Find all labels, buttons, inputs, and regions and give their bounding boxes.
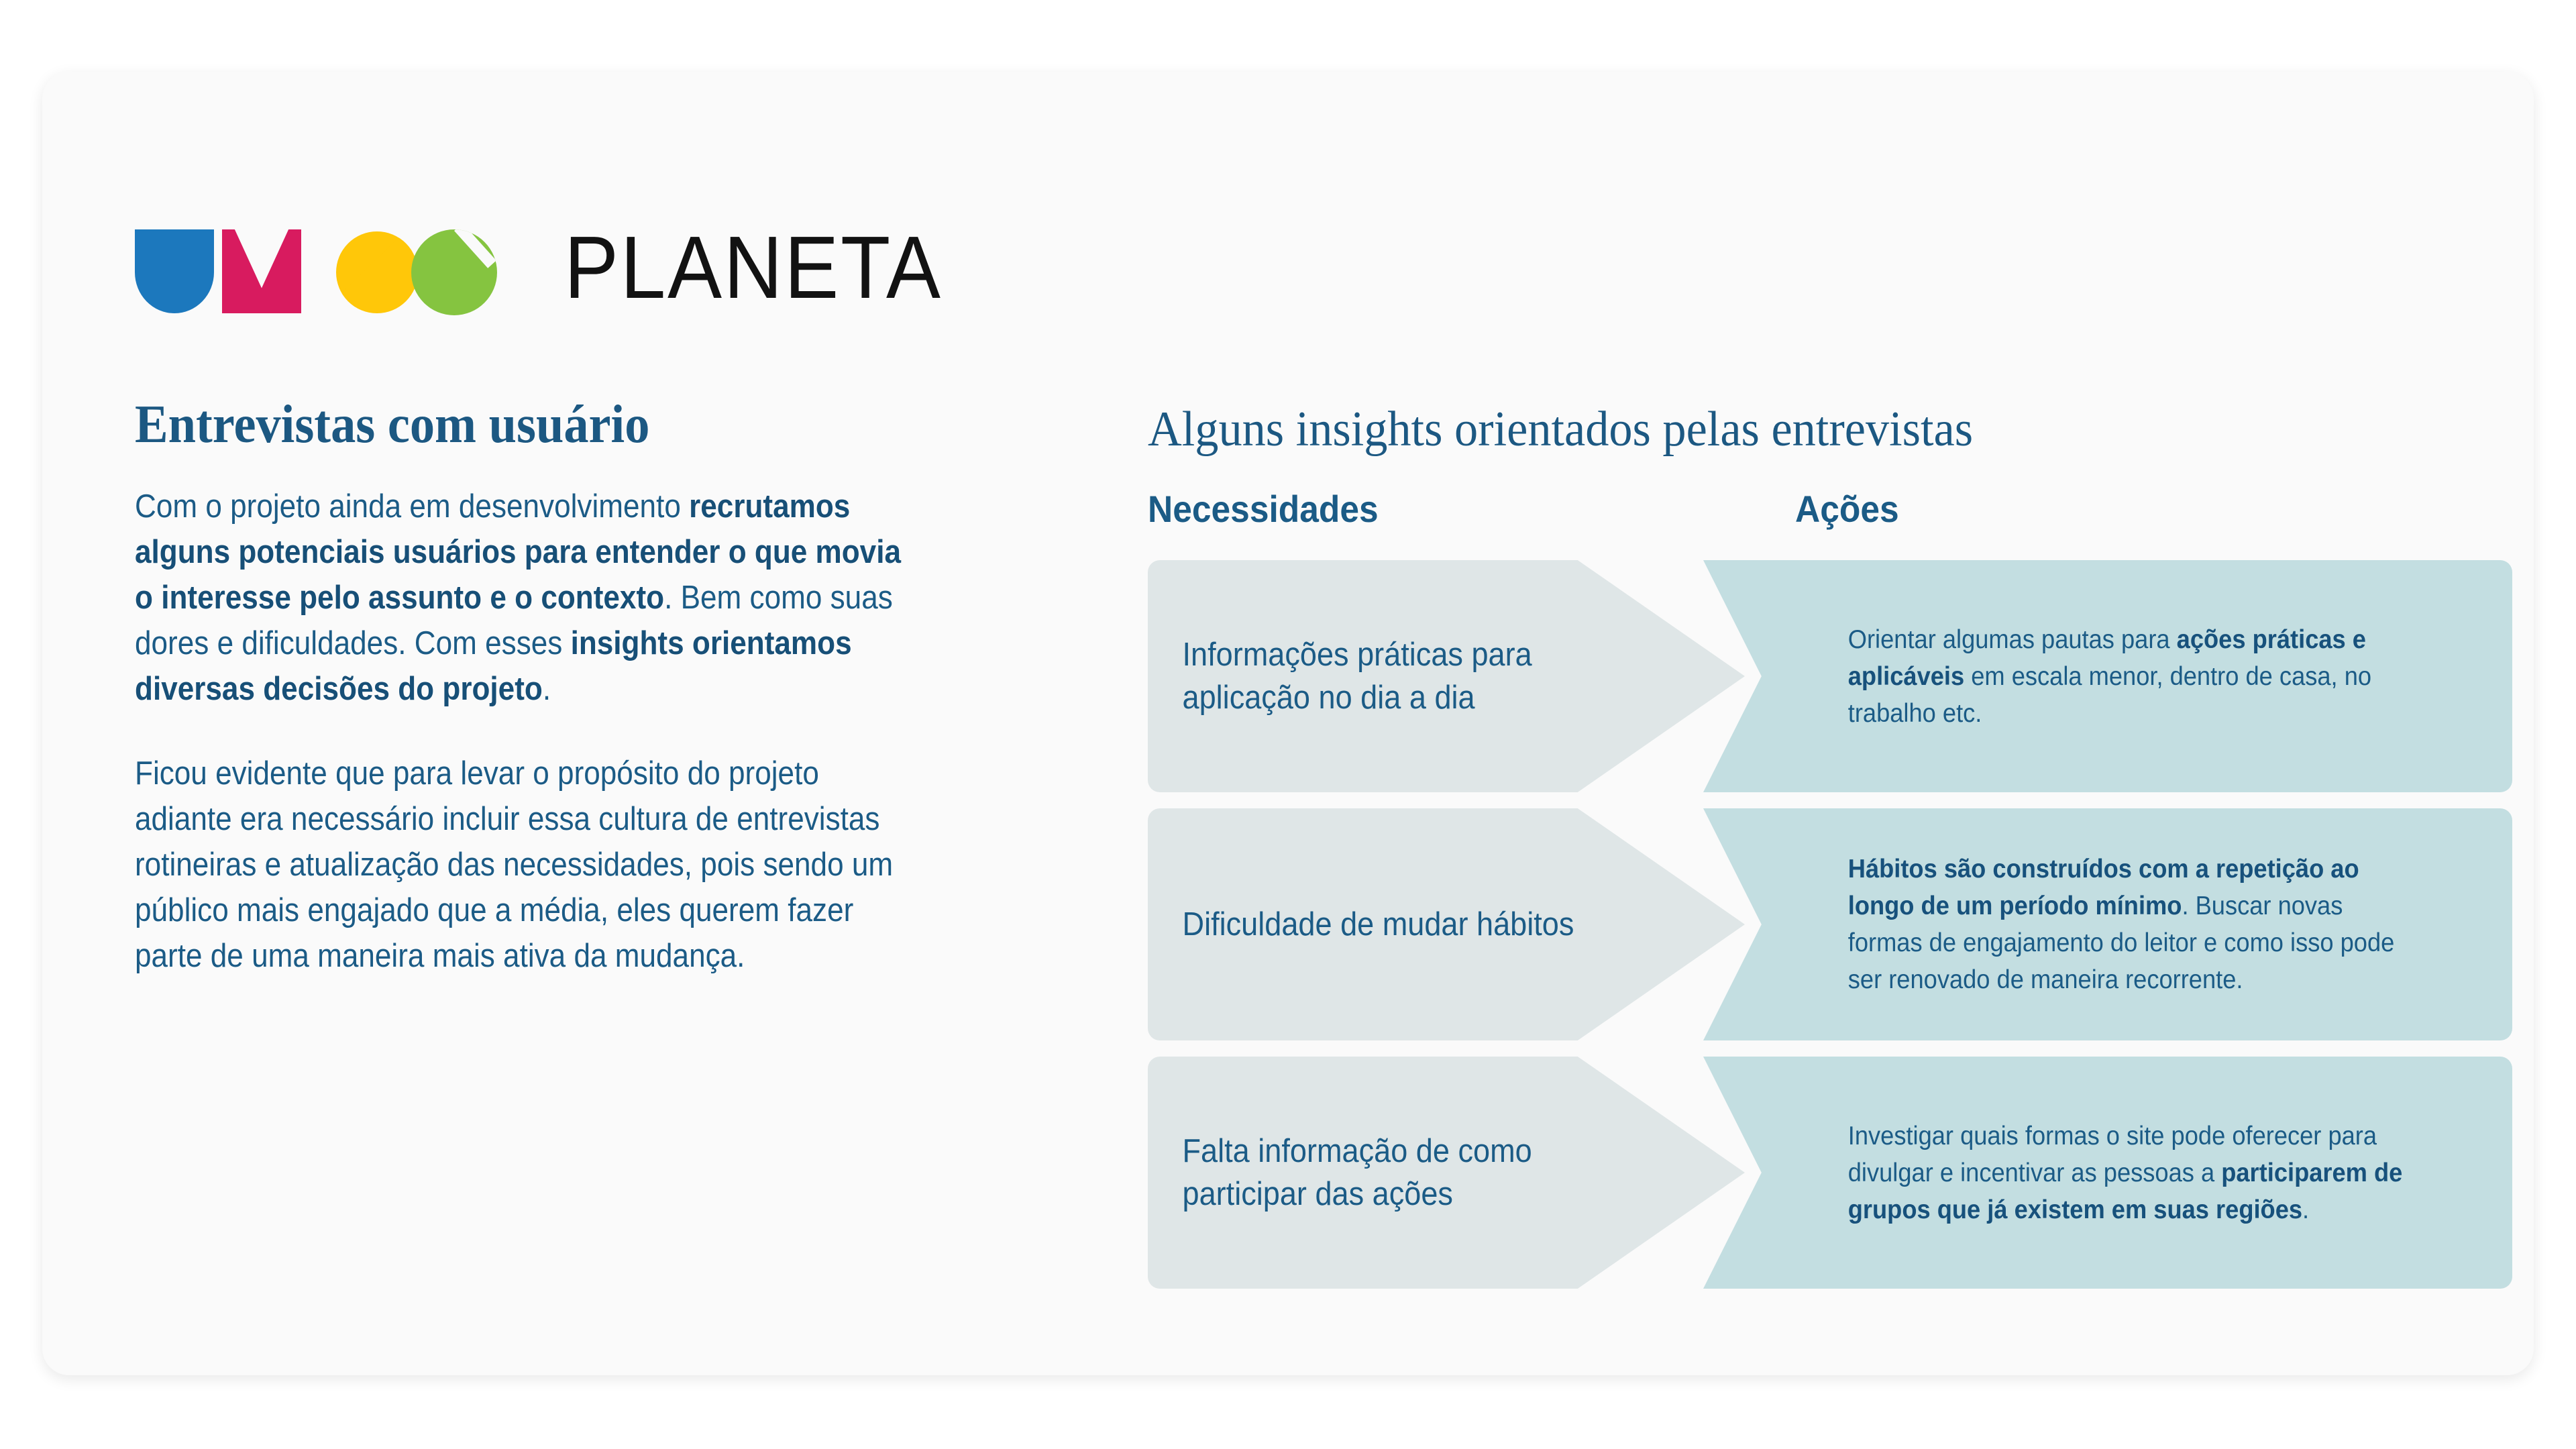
insights-rows: Informações práticas para aplicação no d… bbox=[1148, 560, 2510, 1289]
action-text: Investigar quais formas o site pode ofer… bbox=[1703, 1118, 2456, 1228]
logo-letter-m-icon bbox=[222, 229, 301, 313]
need-block: Falta informação de como participar das … bbox=[1148, 1057, 1745, 1289]
insight-row: Dificuldade de mudar hábitos Hábitos são… bbox=[1148, 808, 2510, 1040]
action-text: Hábitos são construídos com a repetição … bbox=[1703, 851, 2456, 998]
insight-row: Falta informação de como participar das … bbox=[1148, 1057, 2510, 1289]
action-block: Hábitos são construídos com a repetição … bbox=[1703, 808, 2512, 1040]
logo-mark: PLANETA bbox=[135, 219, 470, 313]
left-paragraph-2: Ficou evidente que para levar o propósit… bbox=[135, 751, 920, 979]
action-block: Orientar algumas pautas para ações práti… bbox=[1703, 560, 2512, 792]
brand-logo: PLANETA bbox=[135, 219, 470, 313]
need-text: Falta informação de como participar das … bbox=[1148, 1130, 1697, 1216]
need-block: Informações práticas para aplicação no d… bbox=[1148, 560, 1745, 792]
insights-column-headers: Necessidades Ações bbox=[1148, 488, 2510, 540]
logo-letter-o-accent-icon bbox=[411, 229, 497, 315]
action-block: Investigar quais formas o site pode ofer… bbox=[1703, 1057, 2512, 1289]
need-text: Informações práticas para aplicação no d… bbox=[1148, 633, 1697, 719]
left-paragraph-1: Com o projeto ainda em desenvolvimento r… bbox=[135, 484, 920, 712]
action-text: Orientar algumas pautas para ações práti… bbox=[1703, 621, 2456, 732]
left-column: Entrevistas com usuário Com o projeto ai… bbox=[135, 394, 926, 1018]
slide-card: PLANETA Entrevistas com usuário Com o pr… bbox=[42, 72, 2534, 1375]
insight-row: Informações práticas para aplicação no d… bbox=[1148, 560, 2510, 792]
need-block: Dificuldade de mudar hábitos bbox=[1148, 808, 1745, 1040]
column-header-necessidades: Necessidades bbox=[1148, 488, 1379, 531]
column-header-acoes: Ações bbox=[1795, 488, 1899, 531]
right-column: Alguns insights orientados pelas entrevi… bbox=[1148, 400, 2510, 1289]
page-title: Entrevistas com usuário bbox=[135, 394, 871, 455]
need-text: Dificuldade de mudar hábitos bbox=[1148, 903, 1697, 946]
logo-letter-u-icon bbox=[135, 229, 214, 313]
logo-wordmark: PLANETA bbox=[564, 214, 943, 321]
insights-title: Alguns insights orientados pelas entrevi… bbox=[1148, 400, 2442, 458]
